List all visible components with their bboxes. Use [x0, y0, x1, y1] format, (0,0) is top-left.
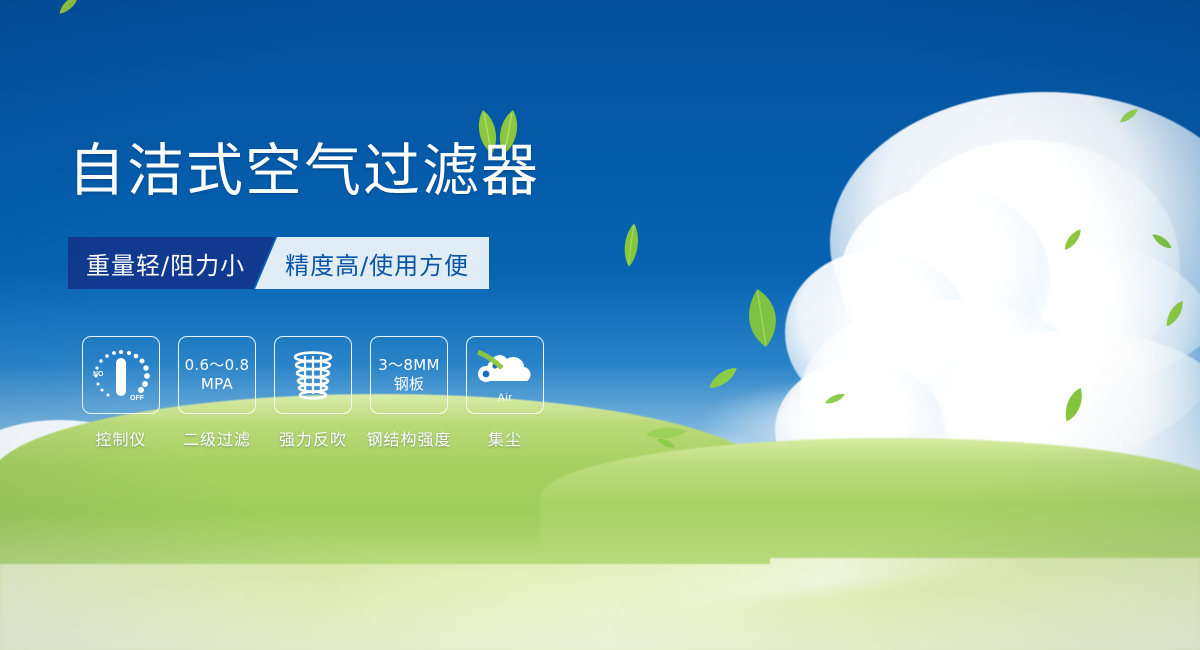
coil-blow-icon	[274, 336, 352, 414]
feature-item-blowback[interactable]: 强力反吹	[274, 336, 352, 450]
cloud-air-icon: Air	[466, 336, 544, 414]
feature-item-dust[interactable]: Air 集尘	[466, 336, 544, 450]
subtitle-bar: 重量轻/阻力小 精度高/使用方便	[68, 237, 489, 289]
gauge-icon: NO OFF	[82, 336, 160, 414]
pressure-value-line1: 0.6～0.8	[185, 356, 250, 374]
svg-text:OFF: OFF	[130, 395, 145, 402]
feature-item-pressure[interactable]: 0.6～0.8 MPA 二级过滤	[178, 336, 256, 450]
steel-value-line2: 钢板	[378, 375, 439, 394]
feature-list: NO OFF 控制仪 0.6～0.8 MPA 二级过滤	[82, 336, 544, 450]
product-banner: 自洁式空气过滤器 重量轻/阻力小 精度高/使用方便	[0, 0, 1200, 650]
grass-hill-right	[540, 438, 1200, 558]
feature-label: 钢结构强度	[367, 426, 452, 450]
feature-item-control[interactable]: NO OFF 控制仪	[82, 336, 160, 450]
air-label: Air	[498, 392, 513, 404]
subtitle-left: 重量轻/阻力小	[68, 237, 275, 289]
steel-value-line1: 3～8MM	[378, 356, 439, 374]
feature-label: 集尘	[488, 426, 522, 450]
feature-label: 控制仪	[95, 426, 146, 450]
subtitle-right: 精度高/使用方便	[255, 237, 489, 289]
floating-leaf-icon	[644, 423, 687, 444]
steel-plate-icon: 3～8MM 钢板	[370, 336, 448, 414]
pressure-icon: 0.6～0.8 MPA	[178, 336, 256, 414]
feature-label: 强力反吹	[279, 426, 347, 450]
feature-item-steel[interactable]: 3～8MM 钢板 钢结构强度	[370, 336, 448, 450]
svg-text:NO: NO	[93, 371, 104, 378]
page-title: 自洁式空气过滤器	[68, 143, 540, 200]
feature-label: 二级过滤	[183, 426, 251, 450]
pressure-value-line2: MPA	[185, 375, 250, 394]
